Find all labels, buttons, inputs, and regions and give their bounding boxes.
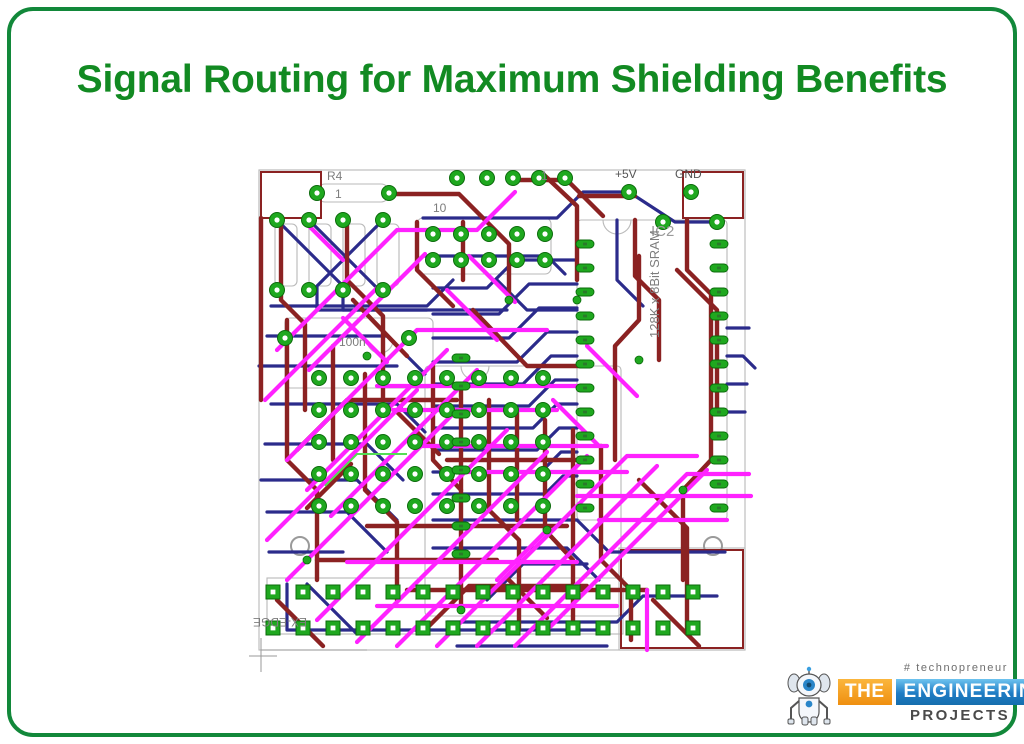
logo-tagline: # technopreneur xyxy=(888,662,1008,674)
silk-label-gnd: GND xyxy=(675,167,702,181)
logo-wordmark: THE ENGINEERING xyxy=(838,679,1024,705)
pad-vcc xyxy=(622,185,637,200)
pad-gnd xyxy=(684,185,699,200)
pad-row-edge-bottom xyxy=(266,621,700,635)
page-title: Signal Routing for Maximum Shielding Ben… xyxy=(0,58,1024,102)
pad-row-edge-top xyxy=(266,585,700,599)
silk-label-r4: R4 xyxy=(327,169,343,183)
pcb-canvas: R4 1 10 1 +5V GND IC2 100n 128K x 8Bit S… xyxy=(247,160,757,675)
robot-mascot-icon xyxy=(786,666,832,726)
logo-word-the: THE xyxy=(838,679,892,705)
silk-label-100n: 100n xyxy=(339,335,366,349)
pcb-layout-image: R4 1 10 1 +5V GND IC2 100n 128K x 8Bit S… xyxy=(247,160,757,675)
silk-label-vcc: +5V xyxy=(615,167,637,181)
silk-label-10: 10 xyxy=(433,201,447,215)
logo-word-projects: PROJECTS xyxy=(838,707,1010,724)
logo-word-engineering: ENGINEERING xyxy=(896,679,1024,705)
silk-label-r4-value: 1 xyxy=(335,187,342,201)
silk-label-sram: 128K x 8Bit SRAM xyxy=(647,230,662,338)
silk-label-edge: EX-EDGE xyxy=(253,615,307,629)
brand-logo: # technopreneur THE ENGINEERING PROJECTS xyxy=(782,660,1010,732)
silk-label-1: 1 xyxy=(541,169,548,183)
slide-root: Signal Routing for Maximum Shielding Ben… xyxy=(0,0,1024,744)
